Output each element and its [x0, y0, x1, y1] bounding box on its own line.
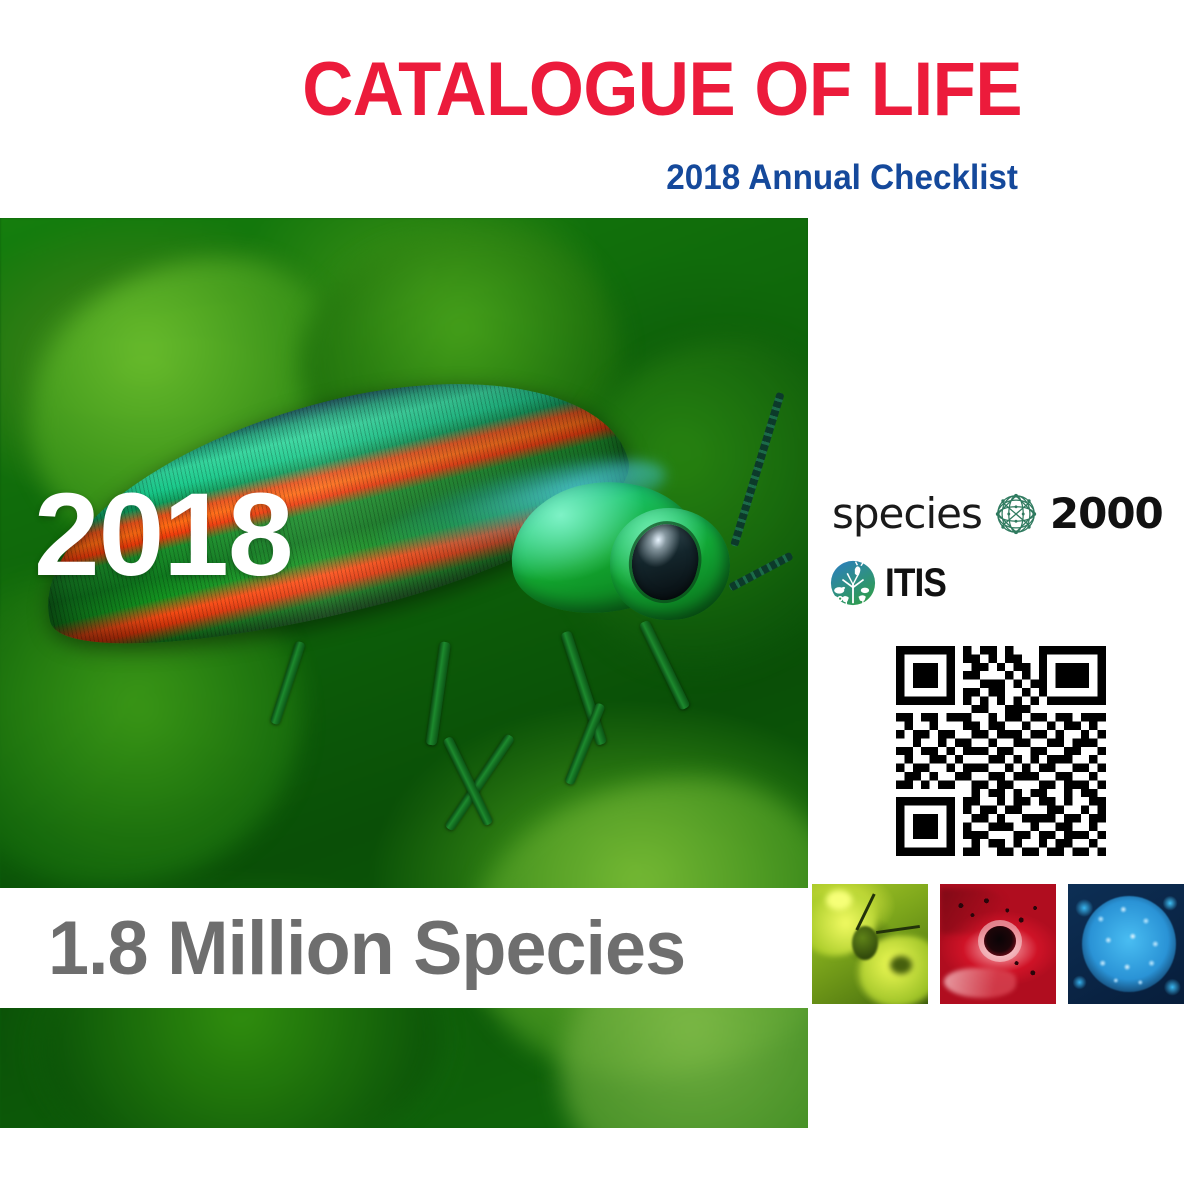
qr-code-canvas[interactable]: [896, 646, 1106, 856]
fish-eye-thumbnail[interactable]: [940, 884, 1056, 1004]
microorganism-thumbnail[interactable]: [1068, 884, 1184, 1004]
species2000-year-mark: 2000: [1050, 493, 1163, 535]
butterfly-thumbnail[interactable]: [812, 884, 928, 1004]
beetle-leg: [426, 641, 451, 746]
thumbnail-strip: [812, 884, 1184, 1004]
species2000-logo[interactable]: species 2000: [832, 490, 1163, 538]
header: CATALOGUE OF LIFE 2018 Annual Checklist: [0, 0, 1200, 218]
qr-code[interactable]: [896, 646, 1106, 856]
species-count-band: 1.8 Million Species: [0, 888, 808, 1008]
year-overlay-label: 2018: [34, 476, 293, 594]
microorganism-cluster: [1082, 896, 1176, 992]
geodesic-sphere-icon: [992, 490, 1040, 538]
butterfly-body: [852, 926, 878, 960]
beetle-leg: [639, 620, 691, 711]
itis-circle-icon: [830, 560, 876, 606]
page-title: CATALOGUE OF LIFE: [72, 52, 1022, 128]
species2000-wordmark: species: [832, 493, 982, 535]
butterfly-wing-spot: [890, 956, 912, 974]
fish-speckles: [940, 884, 1056, 1004]
itis-wordmark: ITIS: [885, 563, 946, 603]
butterfly-wing-spot: [826, 890, 852, 910]
species-count-label: 1.8 Million Species: [48, 906, 685, 992]
page-subtitle: 2018 Annual Checklist: [51, 160, 1018, 195]
beetle-leg: [270, 640, 306, 725]
butterfly-antenna: [876, 925, 920, 934]
beetle-leg: [560, 630, 607, 746]
itis-logo[interactable]: ITIS: [830, 560, 954, 606]
